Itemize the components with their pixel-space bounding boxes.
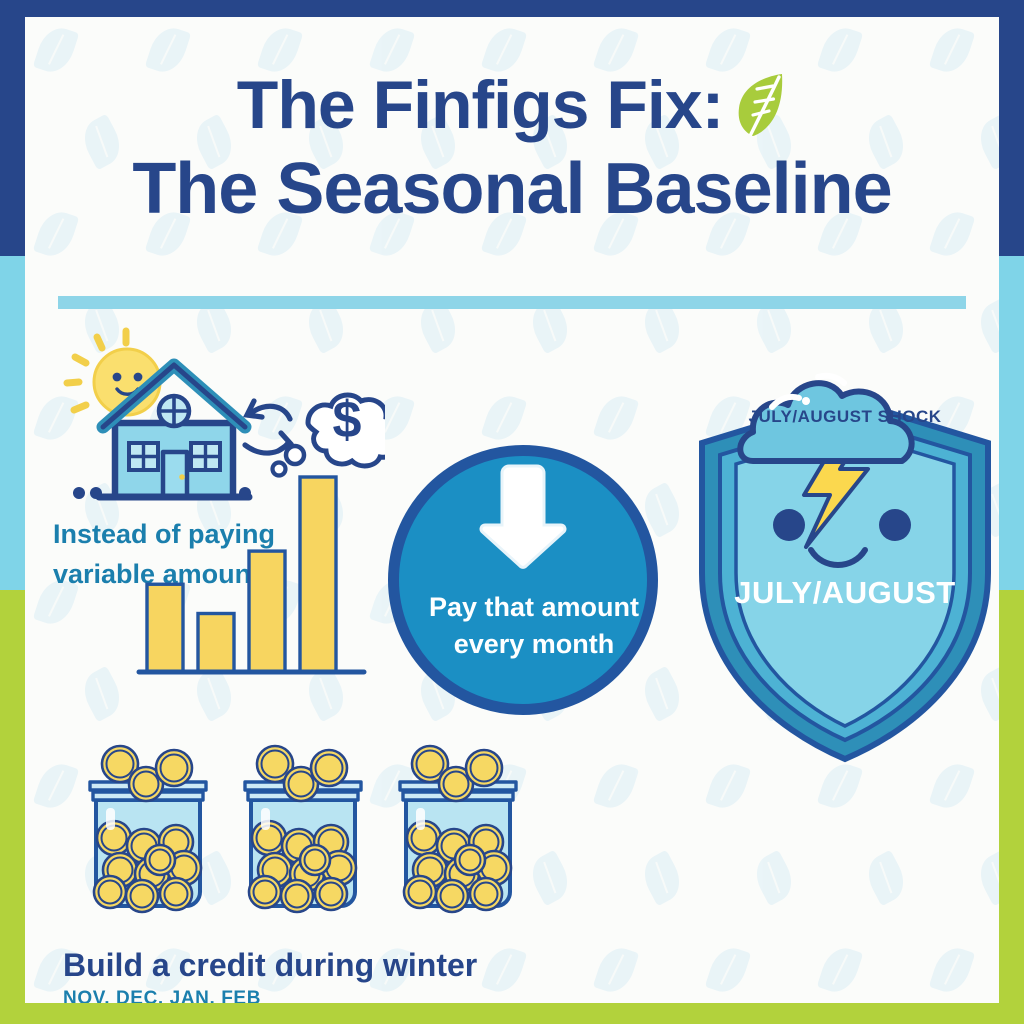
down-arrow-icon bbox=[477, 462, 569, 572]
coin-jar-icon bbox=[245, 746, 361, 912]
page-title: The Finfigs Fix: The Seasonal Baseline bbox=[25, 63, 999, 231]
circle-caption: Pay that amount every month bbox=[399, 589, 669, 663]
pay-monthly-circle: Pay that amount every month bbox=[388, 445, 658, 715]
leaf-watermark-icon bbox=[593, 943, 640, 997]
leaf-watermark-icon bbox=[636, 850, 688, 907]
storm-cloud-icon bbox=[740, 376, 911, 461]
jar-highlight bbox=[106, 808, 115, 830]
leaf-watermark-icon bbox=[33, 759, 80, 813]
leaf-watermark-icon bbox=[972, 850, 999, 907]
coin-jars-illustration bbox=[80, 742, 550, 932]
leaf-watermark-icon bbox=[593, 759, 640, 813]
leaf-watermark-icon bbox=[593, 391, 640, 445]
leaf-watermark-icon bbox=[817, 943, 864, 997]
leaf-watermark-icon bbox=[860, 850, 912, 907]
leaf-watermark-icon bbox=[481, 943, 528, 997]
infographic-poster: The Finfigs Fix: The Seasonal Baseline bbox=[0, 0, 1024, 1024]
leaf-watermark-icon bbox=[705, 943, 752, 997]
title-text-1: The Finfigs Fix: bbox=[237, 67, 723, 143]
leaf-icon bbox=[733, 70, 787, 138]
chart-bar bbox=[300, 477, 336, 672]
jar-highlight bbox=[261, 808, 270, 830]
circle-caption-line-2: every month bbox=[399, 626, 669, 663]
title-divider bbox=[58, 296, 966, 309]
bottom-caption: Build a credit during winter bbox=[63, 945, 477, 985]
flow-arrows-icon bbox=[245, 401, 290, 453]
coin-jar-icon bbox=[90, 746, 206, 912]
poster-page: The Finfigs Fix: The Seasonal Baseline bbox=[25, 17, 999, 1003]
leaf-watermark-icon bbox=[748, 850, 800, 907]
coin-jar-icon bbox=[400, 746, 516, 912]
chart-bar bbox=[198, 614, 234, 673]
circle-caption-line-1: Pay that amount bbox=[399, 589, 669, 626]
chart-bar bbox=[249, 551, 285, 672]
title-line-1: The Finfigs Fix: bbox=[25, 63, 999, 147]
jar-highlight bbox=[416, 808, 425, 830]
july-august-shield: JULY/AUGUST SHOCK JULY/AUGUST bbox=[680, 347, 999, 777]
leaf-watermark-icon bbox=[481, 391, 528, 445]
leaf-watermark-icon bbox=[929, 943, 976, 997]
leaf-watermark-icon bbox=[76, 666, 128, 723]
svg-text:$: $ bbox=[333, 391, 362, 449]
title-line-2: The Seasonal Baseline bbox=[25, 147, 999, 231]
variable-amount-bar-chart bbox=[135, 457, 370, 682]
leaf-watermark-icon bbox=[972, 298, 999, 355]
sun-icon bbox=[67, 331, 160, 415]
chart-bar bbox=[147, 584, 183, 672]
bottom-months-label: NOV, DEC, JAN, FEB bbox=[63, 988, 261, 1003]
